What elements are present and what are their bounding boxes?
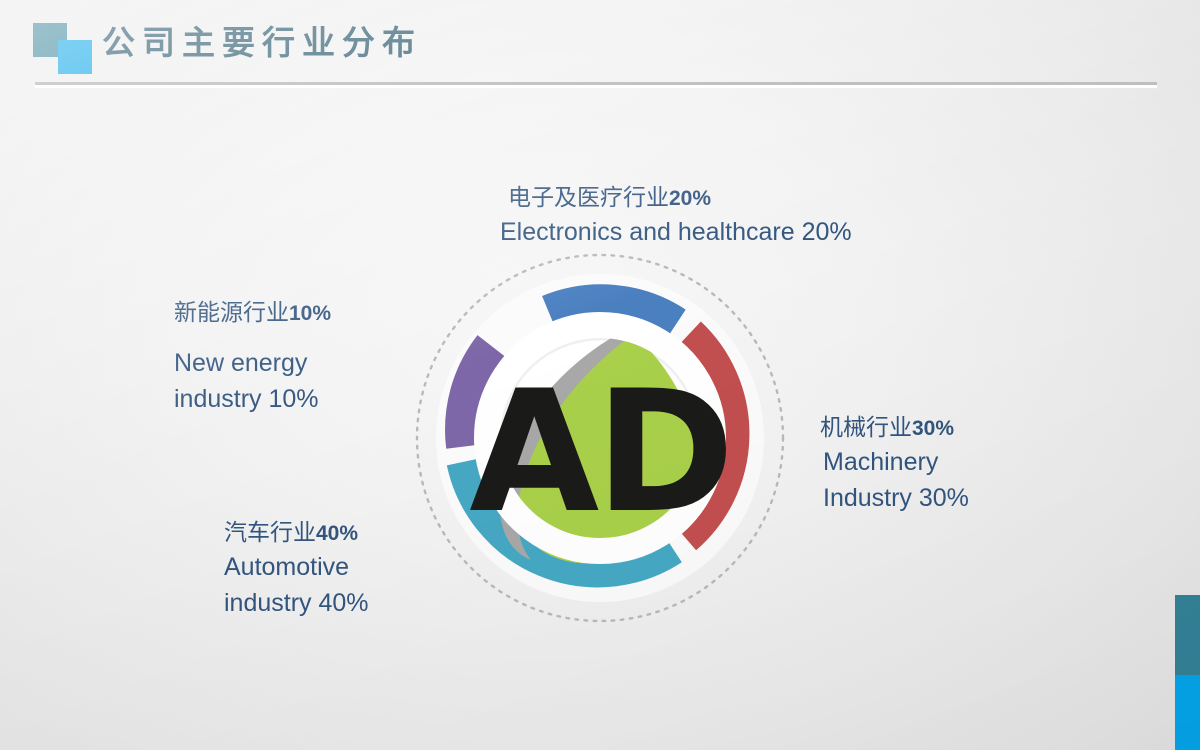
callout-electronics-cn-percent: 20% xyxy=(669,187,711,210)
logo-square-blue-icon xyxy=(58,40,92,74)
callout-electronics-en-line1: Electronics and healthcare 20% xyxy=(500,214,852,250)
callout-machinery: 机械行业30% Machinery Industry 30% xyxy=(820,413,969,516)
callout-electronics-cn-name: 电子及医疗行业 xyxy=(508,185,669,211)
callout-new-energy-cn-percent: 10% xyxy=(289,302,331,325)
slide-background: 公司主要行业分布 xyxy=(0,0,1200,750)
callout-machinery-cn-name: 机械行业 xyxy=(820,415,912,441)
callout-automotive: 汽车行业40% Automotive industry 40% xyxy=(224,518,369,621)
callout-new-energy-cn-name: 新能源行业 xyxy=(174,300,289,326)
callout-automotive-cn-name: 汽车行业 xyxy=(224,520,316,546)
callout-automotive-en-line2: industry 40% xyxy=(224,585,369,621)
center-logo: AD xyxy=(469,325,730,563)
page-title: 公司主要行业分布 xyxy=(102,20,422,66)
center-logo-text: AD xyxy=(469,354,730,550)
callout-electronics-cn: 电子及医疗行业20% xyxy=(500,183,852,214)
callout-electronics: 电子及医疗行业20% Electronics and healthcare 20… xyxy=(500,183,852,250)
callout-machinery-cn-percent: 30% xyxy=(912,417,954,440)
industry-distribution-donut-chart: AD xyxy=(385,253,815,631)
callout-automotive-en-line1: Automotive xyxy=(224,549,369,585)
callout-new-energy-cn: 新能源行业10% xyxy=(174,298,331,329)
corner-accent-blue xyxy=(1175,675,1200,750)
callout-automotive-cn-percent: 40% xyxy=(316,522,358,545)
callout-new-energy-en-line1: New energy xyxy=(174,345,331,381)
callout-machinery-cn: 机械行业30% xyxy=(820,413,969,444)
callout-machinery-en-line2: Industry 30% xyxy=(820,480,969,516)
callout-new-energy: 新能源行业10% New energy industry 10% xyxy=(174,298,331,417)
header-divider-highlight xyxy=(35,85,1157,88)
slide-header: 公司主要行业分布 xyxy=(0,0,1200,92)
corner-accent xyxy=(1175,595,1200,750)
corner-accent-teal xyxy=(1175,595,1200,675)
callout-automotive-cn: 汽车行业40% xyxy=(224,518,369,549)
callout-machinery-en-line1: Machinery xyxy=(820,444,969,480)
callout-new-energy-en-line2: industry 10% xyxy=(174,381,331,417)
